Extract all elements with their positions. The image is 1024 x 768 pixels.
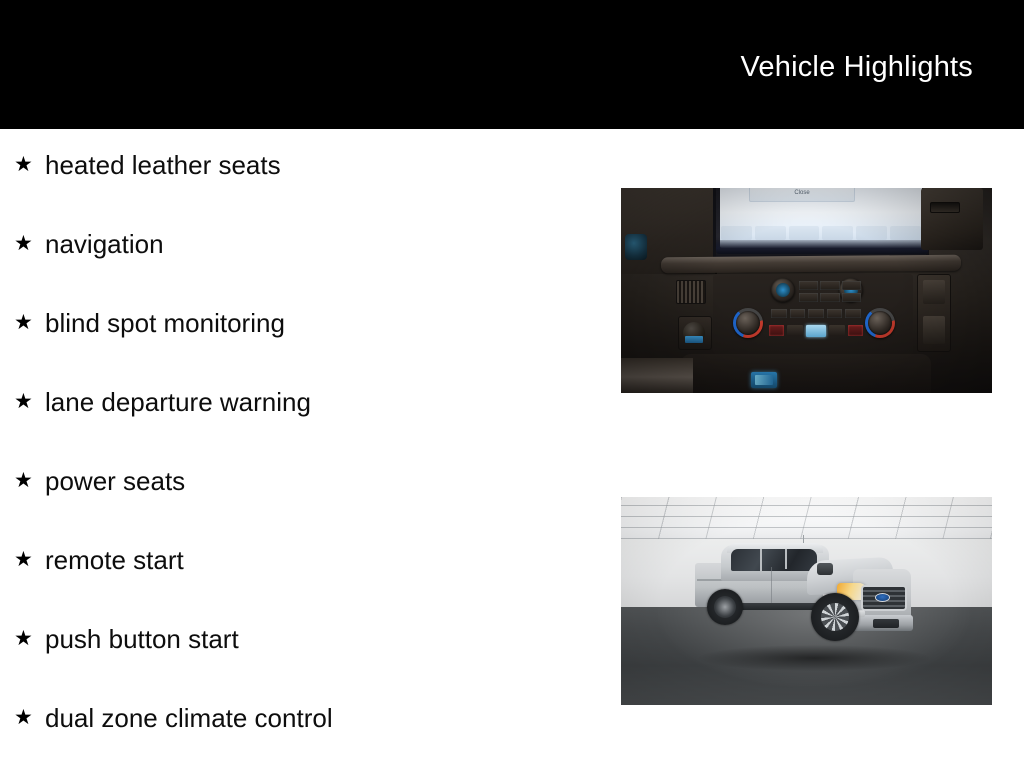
media-button xyxy=(799,293,818,302)
usb-port-glow xyxy=(755,375,773,385)
window-pillar-rear xyxy=(760,549,762,571)
center-console-base xyxy=(681,354,931,393)
feature-label: dual zone climate control xyxy=(45,703,333,734)
heated-seat-button-right xyxy=(848,325,863,336)
right-cluster-button-top xyxy=(923,280,945,304)
screen-tab xyxy=(890,226,921,240)
front-wheel-rim xyxy=(821,603,849,631)
left-side-control-knob xyxy=(625,234,647,260)
rear-wheel-rim xyxy=(714,596,736,618)
truck-ground-shadow xyxy=(699,645,929,671)
feature-label: blind spot monitoring xyxy=(45,308,285,339)
media-button xyxy=(820,281,839,290)
screen-tab xyxy=(789,226,820,240)
dashboard-trim-strip xyxy=(661,255,961,274)
star-bullet-icon: ★ xyxy=(14,229,38,259)
screen-close-button: Close xyxy=(749,188,855,199)
cabin-floor-area xyxy=(621,358,693,393)
climate-mode-button xyxy=(790,309,806,318)
screen-lower-shadow xyxy=(716,240,928,254)
climate-mode-button xyxy=(845,309,861,318)
media-button xyxy=(842,293,861,302)
climate-mode-button xyxy=(827,309,843,318)
auxiliary-indicator-badge xyxy=(685,336,703,343)
climate-display-readout xyxy=(806,325,826,337)
climate-bottom-button-row xyxy=(769,324,863,337)
feature-label: heated leather seats xyxy=(45,150,281,181)
ceiling-grid-pattern xyxy=(621,497,992,539)
climate-mode-button xyxy=(771,309,787,318)
feature-label: navigation xyxy=(45,229,164,260)
heated-seat-button-left xyxy=(769,325,784,336)
list-item: ★ navigation xyxy=(0,229,600,308)
media-button xyxy=(842,281,861,290)
screen-tab xyxy=(755,226,786,240)
door-seam-line xyxy=(771,567,772,607)
volume-knob xyxy=(771,278,795,302)
manufacturer-badge xyxy=(875,593,890,602)
screen-tab-row xyxy=(721,226,921,240)
list-item: ★ heated leather seats xyxy=(0,150,600,229)
passenger-temperature-knob xyxy=(865,308,895,338)
screen-tab xyxy=(721,226,752,240)
list-item: ★ blind spot monitoring xyxy=(0,308,600,387)
right-air-vent xyxy=(921,188,983,250)
feature-label: push button start xyxy=(45,624,239,655)
list-item: ★ push button start xyxy=(0,624,600,703)
list-item: ★ dual zone climate control xyxy=(0,703,600,768)
list-item: ★ power seats xyxy=(0,466,600,545)
window-pillar-front xyxy=(785,549,787,569)
star-bullet-icon: ★ xyxy=(14,387,38,417)
vehicle-exterior-truck-photo xyxy=(621,497,992,705)
media-button-row-upper xyxy=(799,281,861,290)
speaker-grille xyxy=(676,280,706,304)
media-button xyxy=(820,293,839,302)
right-cluster-button-bottom xyxy=(923,316,945,344)
side-mirror xyxy=(817,563,833,575)
right-vent-slot xyxy=(930,202,960,213)
feature-label: power seats xyxy=(45,466,185,497)
star-bullet-icon: ★ xyxy=(14,150,38,180)
feature-label: lane departure warning xyxy=(45,387,311,418)
media-button-row-lower xyxy=(799,293,861,302)
star-bullet-icon: ★ xyxy=(14,545,38,575)
vehicle-feature-list: ★ heated leather seats ★ navigation ★ bl… xyxy=(0,150,600,768)
climate-mode-button xyxy=(808,309,824,318)
feature-label: remote start xyxy=(45,545,184,576)
driver-temperature-knob xyxy=(733,308,763,338)
cab-window-glass xyxy=(731,549,817,571)
media-button xyxy=(799,281,818,290)
star-bullet-icon: ★ xyxy=(14,624,38,654)
screen-tab xyxy=(856,226,887,240)
screen-tab xyxy=(822,226,853,240)
ac-button xyxy=(829,325,844,336)
star-bullet-icon: ★ xyxy=(14,703,38,733)
star-bullet-icon: ★ xyxy=(14,308,38,338)
page-title: Vehicle Highlights xyxy=(740,50,973,84)
star-bullet-icon: ★ xyxy=(14,466,38,496)
defrost-button xyxy=(787,325,802,336)
climate-mode-button-row xyxy=(771,309,861,318)
slide-canvas: Vehicle Highlights ★ heated leather seat… xyxy=(0,0,1024,768)
list-item: ★ remote start xyxy=(0,545,600,624)
vehicle-interior-console-photo: Close xyxy=(621,188,992,393)
bumper-center-insert xyxy=(873,619,899,628)
list-item: ★ lane departure warning xyxy=(0,387,600,466)
